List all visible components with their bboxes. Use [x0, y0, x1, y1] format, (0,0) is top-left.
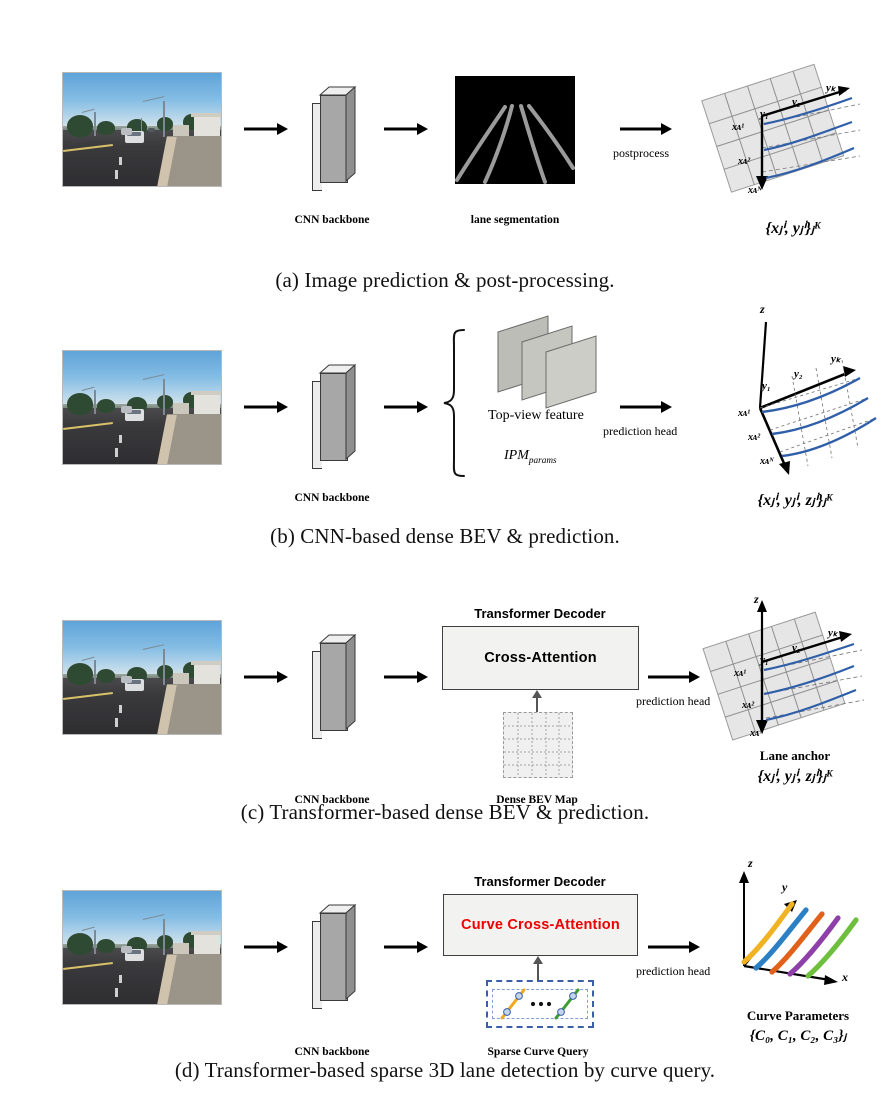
cross-attention-box[interactable]: Cross-Attention [442, 626, 639, 690]
anchor-label-xaN-c: xᴀᴺ [750, 728, 764, 739]
curve-cross-attention-box[interactable]: Curve Cross-Attention [443, 894, 638, 956]
anchor-label-xa2-b: xᴀ² [748, 432, 760, 443]
prediction-head-label-d: prediction head [636, 964, 710, 979]
arrow-backbone-to-decoder-c [384, 670, 428, 684]
anchor-label-y2-c: y₂ [792, 642, 801, 654]
output-formula-b: {xⱼⁱ, yⱼⁱ, zⱼⁱ}ⱼᴷ [710, 490, 880, 510]
anchor-label-y1-c: y₁ [760, 654, 769, 666]
arrow-backbone-to-brace-b [384, 400, 428, 414]
anchor-label-xaN-b: xᴀᴺ [760, 456, 774, 467]
transformer-decoder-title-c: Transformer Decoder [440, 606, 640, 621]
cnn-backbone-label-d: CNN backbone [272, 1046, 392, 1058]
cnn-backbone-slab-c [312, 633, 352, 745]
output-formula-a: {xⱼⁱ, yⱼⁱ}ⱼᴷ [718, 218, 868, 238]
camera-image-c [62, 620, 222, 735]
caption-b: (b) CNN-based dense BEV & prediction. [0, 524, 890, 549]
anchor-label-y1: y₁ [760, 108, 769, 120]
curve-cross-attention-label: Curve Cross-Attention [461, 917, 620, 933]
row-b: Top-view feature IPMparams prediction he… [0, 278, 890, 558]
arrow-backbone-to-decoder-d [384, 940, 428, 954]
arrow-image-to-backbone-a [244, 122, 288, 136]
row-c: Transformer Decoder Cross-Attention pred… [0, 548, 890, 828]
anchor-label-xa1-b: xᴀ¹ [738, 408, 750, 419]
curve-parameters-title: Curve Parameters [718, 1008, 878, 1024]
arrow-bev-to-decoder [527, 690, 547, 712]
arrow-seg-to-output-a [620, 122, 672, 136]
camera-image-d [62, 890, 222, 1005]
anchor-label-xaN: xᴀᴺ [748, 185, 762, 196]
anchor-label-y1-b: y₁ [762, 380, 771, 392]
axis-label-z-c: z [754, 592, 759, 607]
ipm-sub: params [529, 455, 557, 465]
output-formula-c: {xⱼⁱ, yⱼⁱ, zⱼⁱ}ⱼᴷ [710, 766, 880, 786]
arrow-decoder-to-output-d [648, 940, 700, 954]
prediction-head-label-b: prediction head [603, 424, 677, 439]
axis-label-z-d: z [748, 856, 753, 871]
arrow-image-to-backbone-c [244, 670, 288, 684]
cnn-backbone-slab-a [312, 85, 352, 197]
anchor-label-yk-c: yₖ [828, 626, 838, 639]
anchor-label-xa2-c: xᴀ² [742, 700, 754, 711]
cnn-backbone-label-b: CNN backbone [272, 492, 392, 504]
caption-d: (d) Transformer-based sparse 3D lane det… [0, 1058, 890, 1083]
arrow-decoder-to-output-c [648, 670, 700, 684]
arrow-query-to-decoder [528, 956, 548, 980]
dense-bev-map-grid [503, 712, 573, 778]
top-view-feature-label: Top-view feature [488, 408, 584, 424]
ipm-base: IPM [504, 448, 529, 463]
arrow-brace-to-output-b [620, 400, 672, 414]
axis-label-y-d: y [782, 880, 787, 895]
camera-image-b [62, 350, 222, 465]
lane-anchor-title-c: Lane anchor [720, 748, 870, 764]
anchor-label-xa2: xᴀ² [738, 156, 750, 167]
cross-attention-label: Cross-Attention [484, 650, 597, 666]
cnn-backbone-label-a: CNN backbone [272, 214, 392, 226]
output-formula-d: {C₀, C₁, C₂, C₃}ⱼ [718, 1026, 878, 1045]
arrow-image-to-backbone-b [244, 400, 288, 414]
anchor-label-xa1-c: xᴀ¹ [734, 668, 746, 679]
cnn-backbone-slab-d [312, 903, 352, 1015]
figure-root: postprocess [0, 0, 890, 1110]
axis-label-x-d: x [842, 970, 848, 985]
anchor-label-y2-b: y₂ [794, 368, 803, 380]
lane-segmentation-image [455, 76, 575, 184]
postprocess-label: postprocess [613, 146, 669, 161]
axis-label-z-b: z [760, 302, 765, 317]
row-a: postprocess [0, 0, 890, 310]
anchor-label-y2: y₂ [792, 96, 801, 108]
transformer-decoder-title-d: Transformer Decoder [440, 874, 640, 889]
arrow-image-to-backbone-d [244, 940, 288, 954]
anchor-label-yk: yₖ [826, 81, 836, 94]
ipm-params-label: IPMparams [504, 448, 557, 465]
sparse-curve-query-box [486, 980, 594, 1028]
anchor-label-xa1: xᴀ¹ [732, 122, 744, 133]
sparse-curve-query-label: Sparse Curve Query [478, 1046, 598, 1058]
cnn-backbone-slab-b [312, 363, 352, 475]
anchor-label-yk-b: yₖ [831, 352, 841, 365]
camera-image-a [62, 72, 222, 187]
arrow-backbone-to-seg-a [384, 122, 428, 136]
row-d: Transformer Decoder Curve Cross-Attentio… [0, 818, 890, 1110]
lane-segmentation-label: lane segmentation [455, 214, 575, 226]
